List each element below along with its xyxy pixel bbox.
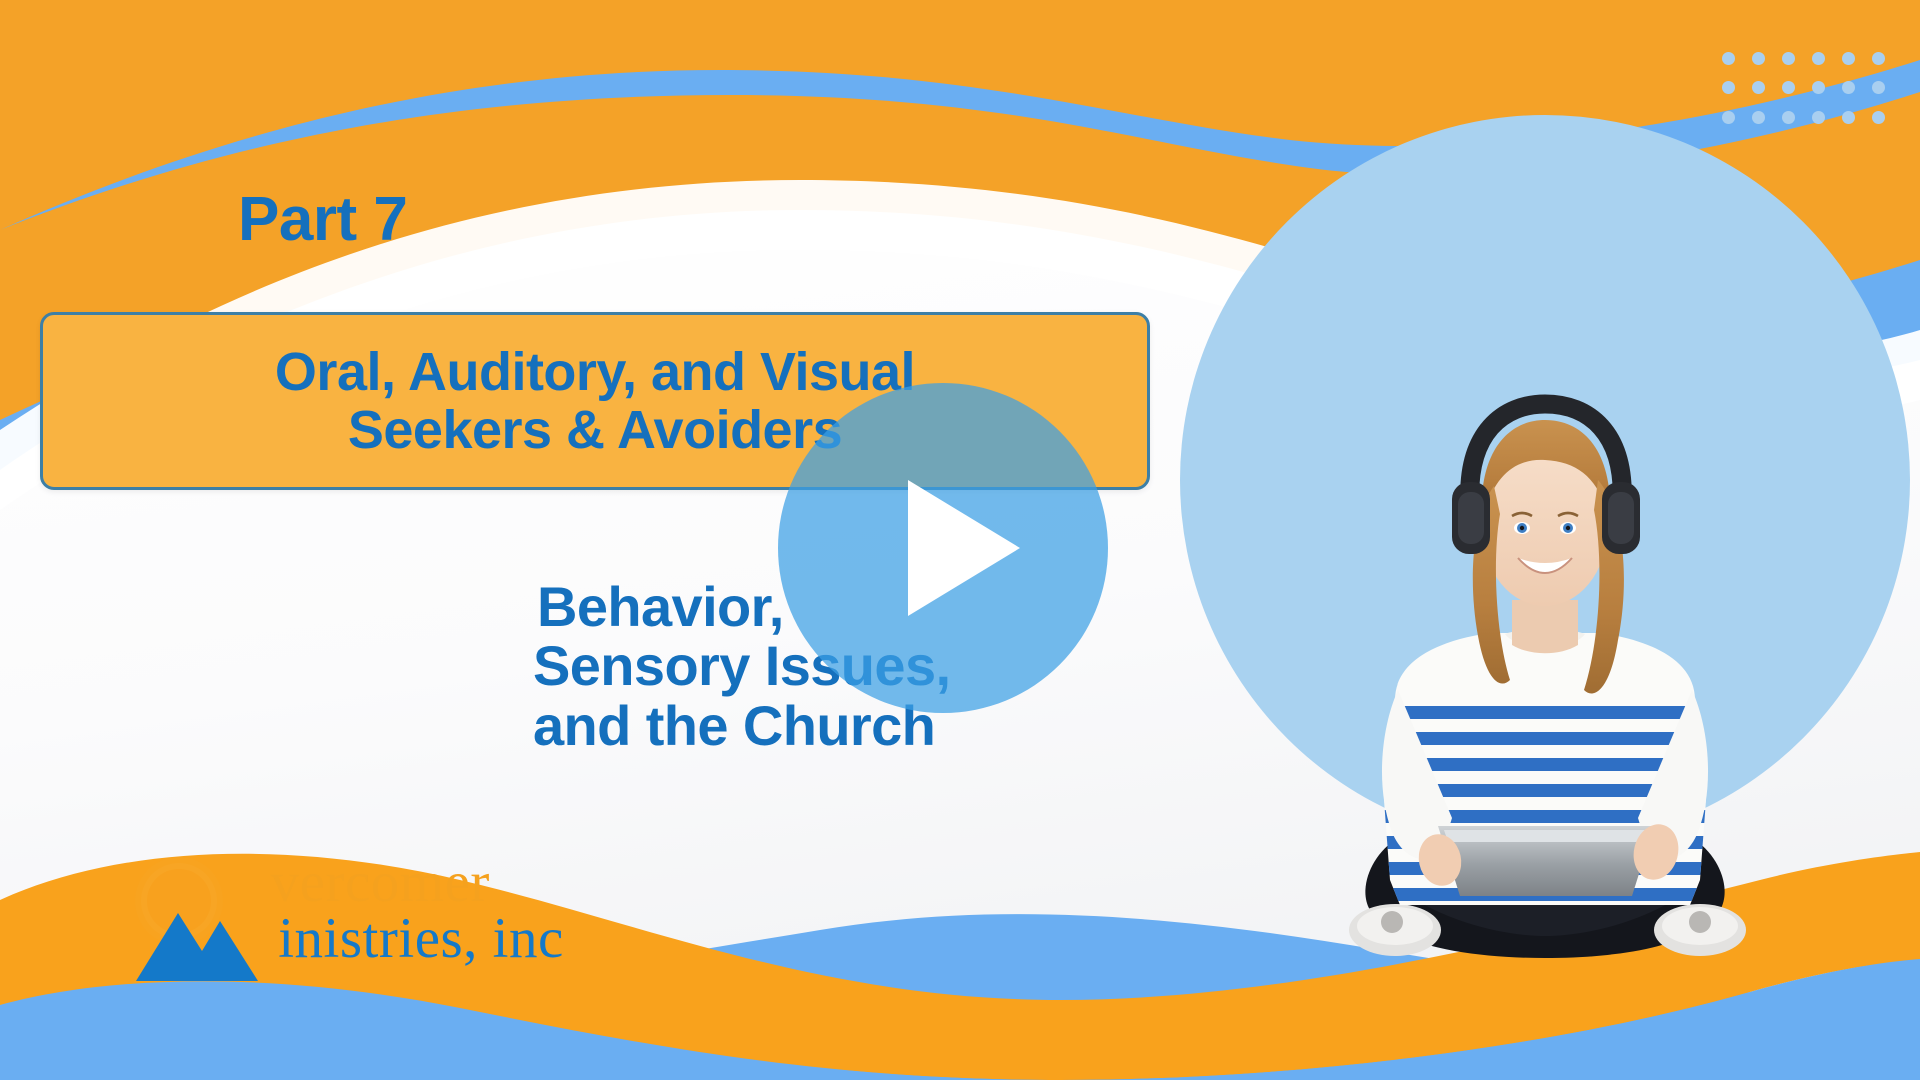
dot [1752, 52, 1765, 65]
series-title-line-1: Oral, Auditory, and Visual [275, 342, 915, 402]
dot [1722, 81, 1735, 94]
play-button[interactable] [778, 383, 1108, 713]
dot [1782, 81, 1795, 94]
dot [1842, 111, 1855, 124]
dot [1812, 111, 1825, 124]
logo-ministries-rest: inistries, inc [278, 907, 564, 970]
subtitle-line-3: and the Church [533, 696, 950, 755]
logo-overcomer-rest: vercomer [271, 851, 490, 914]
dot [1872, 52, 1885, 65]
dot [1752, 81, 1765, 94]
dot [1782, 52, 1795, 65]
dot [1782, 111, 1795, 124]
dot [1842, 52, 1855, 65]
dot [1722, 111, 1735, 124]
logo-word-overcomer: Overcomer [227, 855, 564, 911]
dot [1872, 111, 1885, 124]
overcomer-ministries-logo: Overcomer Ministries, inc [122, 855, 622, 985]
dot [1722, 52, 1735, 65]
part-number-label: Part 7 [238, 189, 407, 251]
play-triangle-icon [908, 480, 1020, 616]
dot [1812, 52, 1825, 65]
video-thumbnail-slide: Part 7 Oral, Auditory, and Visual Seeker… [0, 0, 1920, 1080]
dot [1752, 111, 1765, 124]
decorative-dot-grid [1722, 52, 1902, 140]
dot [1842, 81, 1855, 94]
logo-word-ministries: Ministries, inc [227, 911, 564, 967]
dot [1812, 81, 1825, 94]
series-title-line-2: Seekers & Avoiders [348, 400, 842, 460]
dot [1872, 81, 1885, 94]
logo-wordmark: Overcomer Ministries, inc [227, 855, 564, 967]
